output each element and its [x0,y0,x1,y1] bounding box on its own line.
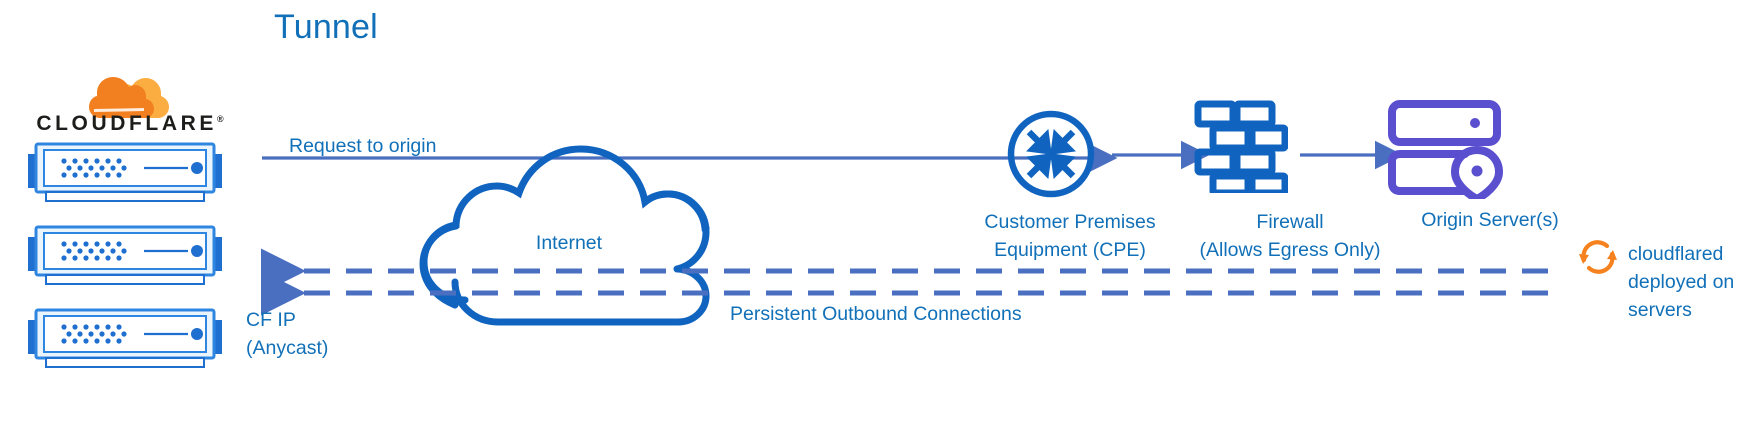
origin-server-icon [1387,99,1505,199]
request-to-origin-label: Request to origin [289,134,436,159]
internet-label: Internet [484,231,654,256]
cloudflared-label-line3: servers [1628,296,1748,324]
origin-server-label: Origin Server(s) [1345,208,1635,233]
persistent-outbound-connections-label: Persistent Outbound Connections [730,302,1022,327]
firewall-label-line2: (Allows Egress Only) [1145,236,1435,264]
cf-ip-line2: (Anycast) [246,334,386,362]
cloudflared-label-line1: cloudflared [1628,240,1748,268]
cf-ip-line1: CF IP [246,306,386,334]
router-arrows-icon [1005,108,1097,200]
cloudflared-label-line2: deployed on [1628,268,1748,296]
sync-arrows-icon [1577,236,1619,278]
cloudflared-label: cloudflared deployed on servers [1628,240,1748,324]
brick-wall-icon [1194,99,1288,193]
tunnel-diagram: Tunnel CLOUDFLARE® [0,0,1754,422]
cf-ip-annotation: CF IP (Anycast) [246,306,386,362]
